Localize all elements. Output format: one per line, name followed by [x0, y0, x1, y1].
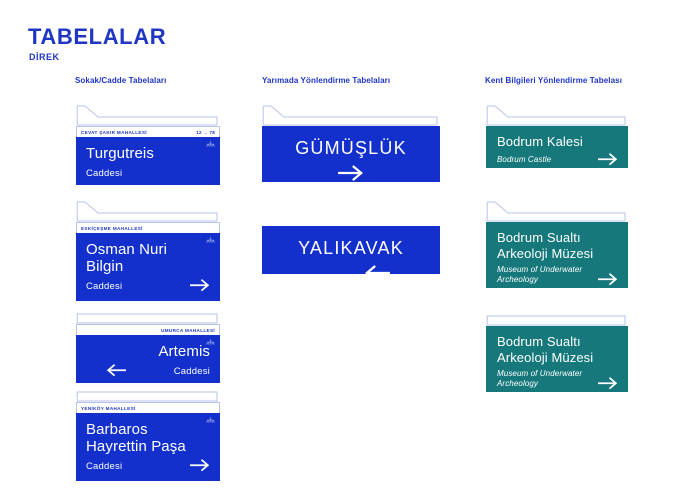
arrow-right-icon — [338, 165, 364, 181]
street-number-range: 12 → 78 — [196, 130, 215, 135]
street-type-label: Caddesi — [86, 168, 122, 179]
sign-post-bracket — [76, 390, 220, 402]
street-sign: CEVAT ŞAKIR MAHALLESİ12 → 78 Turgutreis … — [76, 104, 220, 185]
street-sign-name-line: Osman Nuri — [86, 242, 210, 259]
neighbourhood-strip: CEVAT ŞAKIR MAHALLESİ12 → 78 — [76, 126, 220, 137]
city-info-sign: Bodrum SualtıArkeoloji Müzesi Museum of … — [486, 200, 628, 288]
signage-board: TABELALAR DİREK Sokak/Cadde Tabelaları Y… — [0, 0, 700, 495]
street-sign-name-line: Hayrettin Paşa — [86, 439, 210, 456]
street-sign: UMURCA MAHALLESİ Artemis Caddesi — [76, 312, 220, 383]
city-sign-english-line: Museum of Underwater — [497, 265, 582, 275]
neighbourhood-label: CEVAT ŞAKIR MAHALLESİ — [81, 130, 147, 135]
street-sign-name-line: Turgutreis — [86, 146, 210, 163]
peninsula-sign-plate: YALIKAVAK — [262, 226, 440, 274]
city-sign-english-line: Archeology — [497, 275, 582, 285]
neighbourhood-strip: ESKİÇEŞME MAHALLESİ — [76, 222, 220, 233]
street-type-label: Caddesi — [174, 366, 210, 377]
column-heading-city: Kent Bilgileri Yönlendirme Tabelası — [485, 76, 622, 85]
arrow-right-icon — [598, 153, 618, 165]
city-sign-english-block: Museum of UnderwaterArcheology — [497, 369, 582, 389]
arrow-right-icon — [190, 459, 210, 471]
neighbourhood-label: UMURCA MAHALLESİ — [161, 328, 215, 333]
street-sign-plate: Osman NuriBilgin Caddesi — [76, 233, 220, 301]
city-sign-english-line: Museum of Underwater — [497, 369, 582, 379]
sign-post-bracket — [76, 200, 220, 222]
sign-post-bracket — [262, 104, 440, 126]
city-sign-plate: Bodrum SualtıArkeoloji Müzesi Museum of … — [486, 326, 628, 392]
municipality-emblem-icon — [206, 339, 215, 346]
column-heading-street: Sokak/Cadde Tabelaları — [75, 76, 166, 85]
street-sign: YENİKÖY MAHALLESİ BarbarosHayrettin Paşa… — [76, 390, 220, 481]
arrow-left-icon — [86, 364, 106, 376]
sign-post-bracket — [486, 314, 628, 326]
peninsula-destination-name: GÜMÜŞLÜK — [272, 138, 430, 158]
street-sign-name-line: Barbaros — [86, 422, 210, 439]
city-info-sign: Bodrum SualtıArkeoloji Müzesi Museum of … — [486, 314, 628, 392]
city-sign-english-line: Bodrum Castle — [497, 155, 551, 165]
neighbourhood-label: YENİKÖY MAHALLESİ — [81, 406, 136, 411]
street-type-label: Caddesi — [86, 281, 122, 292]
municipality-emblem-icon — [206, 237, 215, 244]
peninsula-sign-plate: GÜMÜŞLÜK — [262, 126, 440, 182]
peninsula-sign: GÜMÜŞLÜK — [262, 104, 440, 182]
city-sign-plate: Bodrum Kalesi Bodrum Castle — [486, 126, 628, 168]
street-sign-plate: Artemis Caddesi — [76, 335, 220, 383]
peninsula-destination-name: YALIKAVAK — [272, 238, 430, 258]
sign-post-bracket — [486, 200, 628, 222]
peninsula-sign: YALIKAVAK — [262, 226, 440, 274]
neighbourhood-strip: YENİKÖY MAHALLESİ — [76, 402, 220, 413]
street-sign-plate: Turgutreis Caddesi — [76, 137, 220, 185]
neighbourhood-strip: UMURCA MAHALLESİ — [76, 324, 220, 335]
column-heading-peninsula: Yarımada Yönlendirme Tabelaları — [262, 76, 390, 85]
street-sign-plate: BarbarosHayrettin Paşa Caddesi — [76, 413, 220, 481]
arrow-left-icon — [338, 265, 364, 274]
arrow-right-icon — [190, 279, 210, 291]
municipality-emblem-icon — [206, 417, 215, 424]
city-sign-plate: Bodrum SualtıArkeoloji Müzesi Museum of … — [486, 222, 628, 288]
street-sign-name-line: Bilgin — [86, 259, 210, 276]
municipality-emblem-icon — [206, 141, 215, 148]
street-sign: ESKİÇEŞME MAHALLESİ Osman NuriBilgin Cad… — [76, 200, 220, 301]
city-sign-name-line: Arkeoloji Müzesi — [497, 246, 618, 262]
sign-post-bracket — [486, 104, 628, 126]
city-sign-name-line: Bodrum Sualtı — [497, 230, 618, 246]
city-sign-english-line: Archeology — [497, 379, 582, 389]
neighbourhood-label: ESKİÇEŞME MAHALLESİ — [81, 226, 143, 231]
city-sign-name-line: Bodrum Sualtı — [497, 334, 618, 350]
city-info-sign: Bodrum Kalesi Bodrum Castle — [486, 104, 628, 168]
city-sign-english-block: Bodrum Castle — [497, 155, 551, 165]
city-sign-name-line: Arkeoloji Müzesi — [497, 350, 618, 366]
street-type-label: Caddesi — [86, 461, 122, 472]
street-sign-name-line: Artemis — [86, 344, 210, 361]
page-subtitle: DİREK — [29, 52, 60, 62]
arrow-right-icon — [598, 273, 618, 285]
city-sign-name-line: Bodrum Kalesi — [497, 134, 618, 150]
city-sign-english-block: Museum of UnderwaterArcheology — [497, 265, 582, 285]
page-title: TABELALAR — [28, 26, 166, 48]
sign-post-bracket — [76, 104, 220, 126]
arrow-right-icon — [598, 377, 618, 389]
sign-post-bracket — [76, 312, 220, 324]
